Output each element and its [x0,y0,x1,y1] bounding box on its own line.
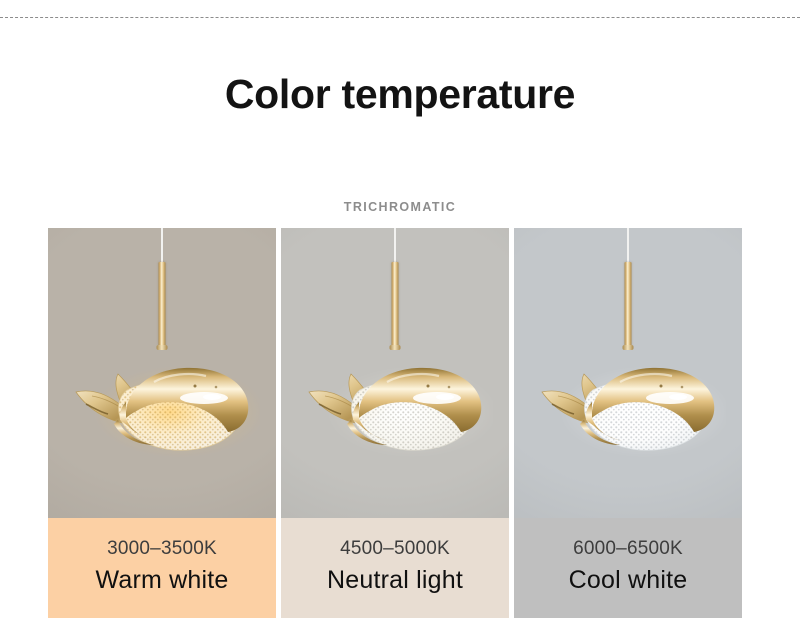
pendant-rod [625,262,632,348]
kelvin-range: 3000–3500K [107,538,217,560]
whale-pendant-lamp-icon [64,346,260,466]
ceiling-cord [161,228,163,264]
color-temperature-panel-neutral-light[interactable]: 4500–5000K Neutral light [281,228,509,618]
ceiling-cord [627,228,629,264]
kelvin-range: 4500–5000K [340,538,450,560]
color-temperature-panels: 3000–3500K Warm white [48,228,742,618]
page-title: Color temperature [0,72,800,117]
panel-caption: 6000–6500K Cool white [514,518,742,618]
whale-pendant-lamp-icon [530,346,726,466]
panel-caption: 4500–5000K Neutral light [281,518,509,618]
color-temperature-panel-cool-white[interactable]: 6000–6500K Cool white [514,228,742,618]
tone-name: Warm white [95,566,228,595]
kelvin-range: 6000–6500K [573,538,683,560]
product-scene [514,228,742,518]
color-temperature-panel-warm-white[interactable]: 3000–3500K Warm white [48,228,276,618]
trichromatic-label: TRICHROMATIC [0,200,800,214]
ceiling-cord [394,228,396,264]
product-scene [281,228,509,518]
top-dashed-divider [0,17,800,18]
tone-name: Cool white [569,566,688,595]
product-scene [48,228,276,518]
panel-caption: 3000–3500K Warm white [48,518,276,618]
pendant-rod [392,262,399,348]
tone-name: Neutral light [327,566,463,595]
whale-pendant-lamp-icon [297,346,493,466]
pendant-rod [159,262,166,348]
